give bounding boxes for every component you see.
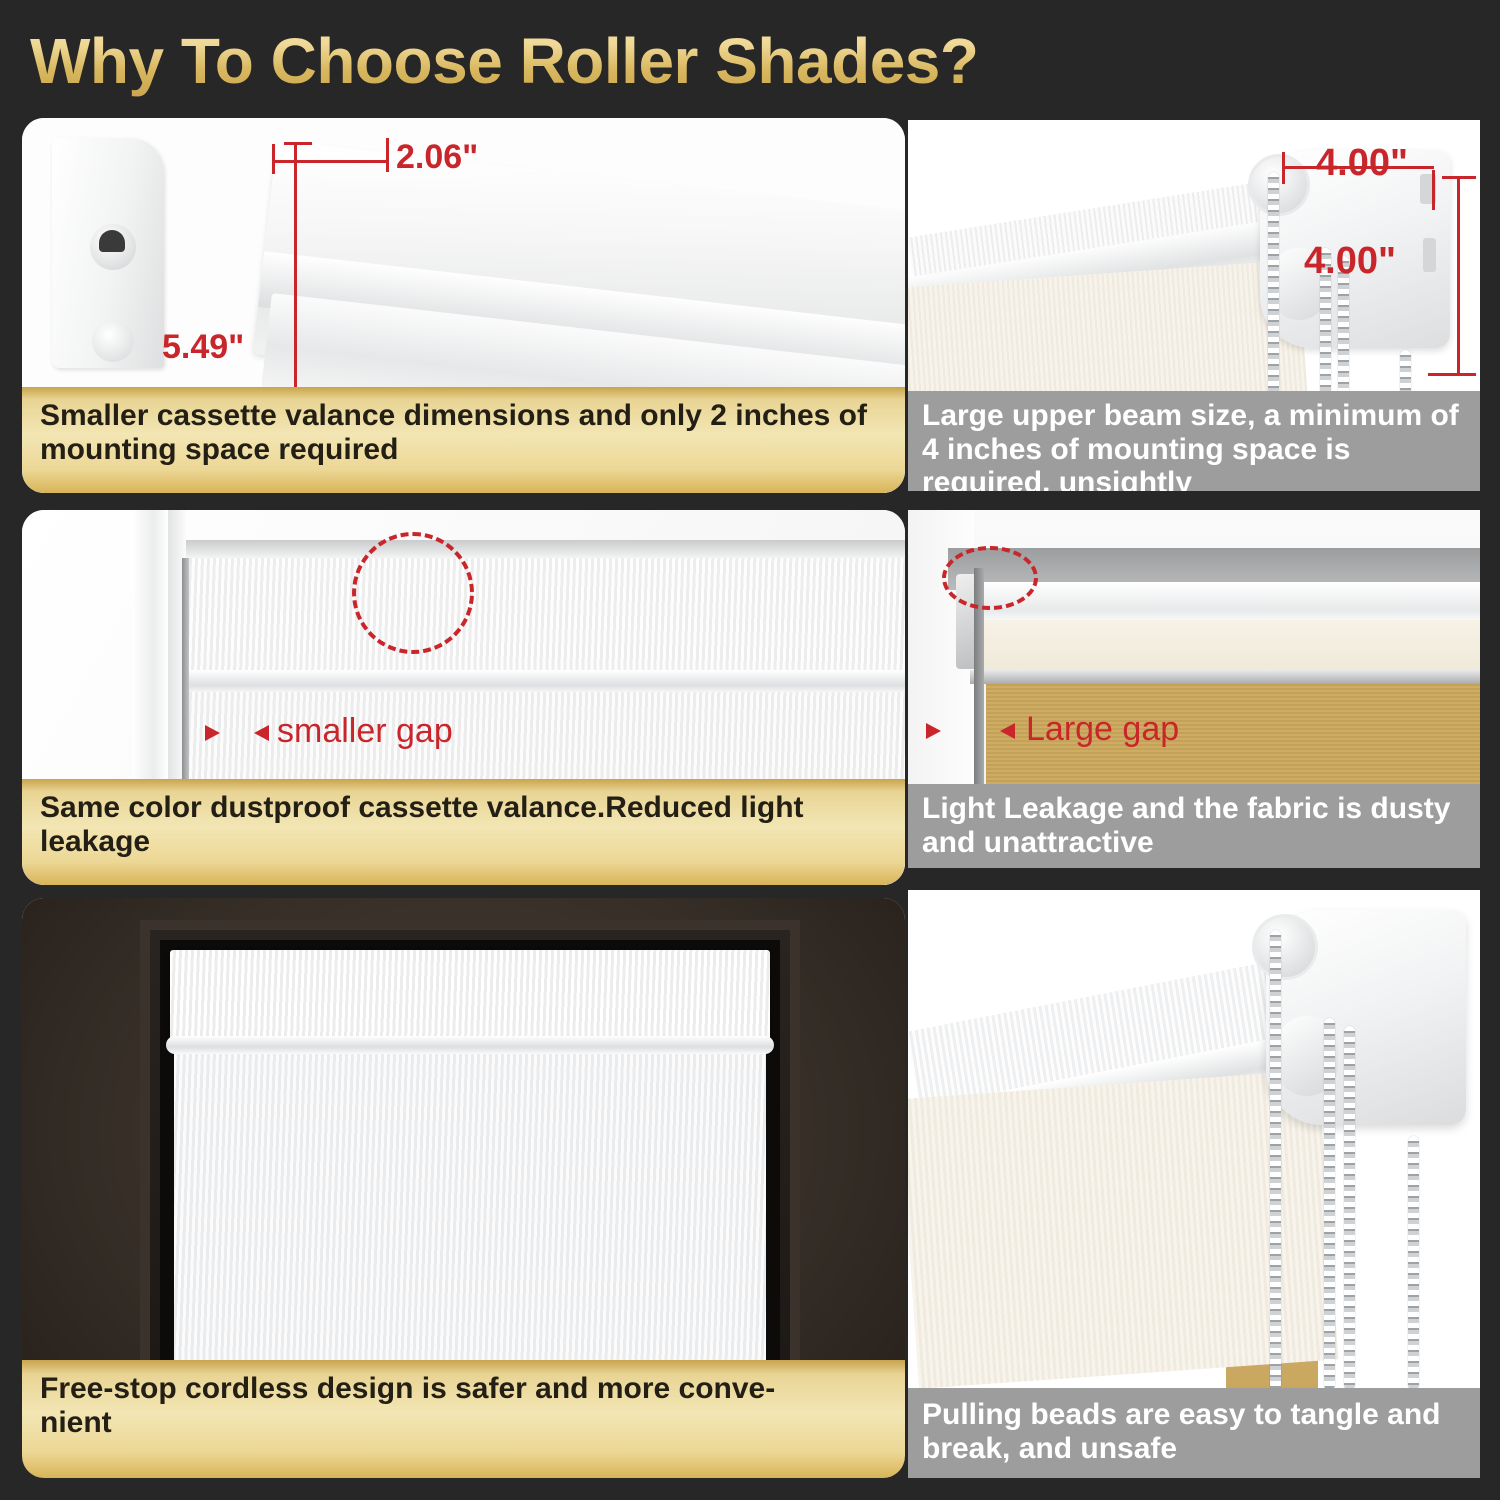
leak-cream-fabric [978,620,1480,672]
panel-cassette-valance: 2.06" 5.49" Smaller cassette valance dim… [22,118,905,493]
beam-width-dimension-label: 4.00" [1316,142,1408,185]
bead-roller-end [1252,914,1318,980]
width-dimension-label: 2.06" [396,138,478,177]
beam-roller-end [1248,154,1310,216]
valance-rail [166,1036,774,1054]
panel-light-leakage-caption: Light Leakage and the fabric is dusty an… [908,784,1480,868]
caption-line-1: Free-stop cordless design is safer and m… [40,1372,887,1406]
panel-dustproof-valance: smaller gap Same color dustproof cassett… [22,510,905,885]
width-dimension-tick-left [272,144,275,174]
shade-fabric [174,1052,766,1382]
panel-cordless-design: Free-stop cordless design is safer and m… [22,898,905,1478]
beam-width-tick-right [1432,170,1435,210]
bead-chain-1 [1270,930,1281,1390]
valance-head-rail [186,540,905,558]
caption-line-2: nient [40,1406,887,1440]
bead-chain-2 [1324,1018,1335,1390]
shade-middle-rail [182,670,905,692]
beam-height-dimension-label: 4.00" [1304,240,1396,283]
valance-bracket-knob [90,224,136,270]
valance-lower-knob [92,320,134,362]
bead-chain-3 [1344,1026,1355,1390]
panel-upper-beam: 4.00" 4.00" Large upper beam size, a min… [908,120,1480,491]
height-dimension-label: 5.49" [162,328,244,367]
panel-pulling-beads-caption: Pulling beads are easy to tangle and bre… [908,1388,1480,1478]
beam-height-dimension-line [1457,176,1460,376]
cassette-valance [170,950,770,1042]
width-dimension-line [272,160,388,163]
gap-highlight-circle [352,532,474,654]
panel-cassette-valance-caption: Smaller cassette valance dimensions and … [22,387,905,493]
valance-end-cap [52,138,164,368]
height-dimension-tick-top [284,142,312,145]
smaller-gap-label: smaller gap [277,712,453,751]
panel-upper-beam-caption: Large upper beam size, a minimum of 4 in… [908,391,1480,491]
gap-arrow-left [205,725,220,741]
beam-height-tick-bottom [1428,373,1476,376]
panel-cordless-design-caption: Free-stop cordless design is safer and m… [22,1360,905,1478]
leak-arrow-right [1000,723,1015,739]
leak-highlight-circle [942,546,1038,610]
leak-arrow-left [926,723,941,739]
beam-width-tick-left [1282,152,1285,184]
page-title: Why To Choose Roller Shades? [30,22,1130,100]
panel-pulling-beads: Pulling beads are easy to tangle and bre… [908,890,1480,1478]
panel-light-leakage: Large gap Light Leakage and the fabric i… [908,510,1480,868]
bead-chain-4 [1408,1136,1419,1390]
large-gap-label: Large gap [1026,710,1179,749]
width-dimension-tick-right [386,138,389,172]
leak-silver-rail [970,670,1480,684]
shade-fabric-upper [186,558,905,676]
leak-roller-tube [970,582,1480,622]
beam-height-tick-top [1442,176,1476,179]
gap-arrow-right [254,725,269,741]
panel-dustproof-valance-caption: Same color dustproof cassette valance.Re… [22,779,905,885]
